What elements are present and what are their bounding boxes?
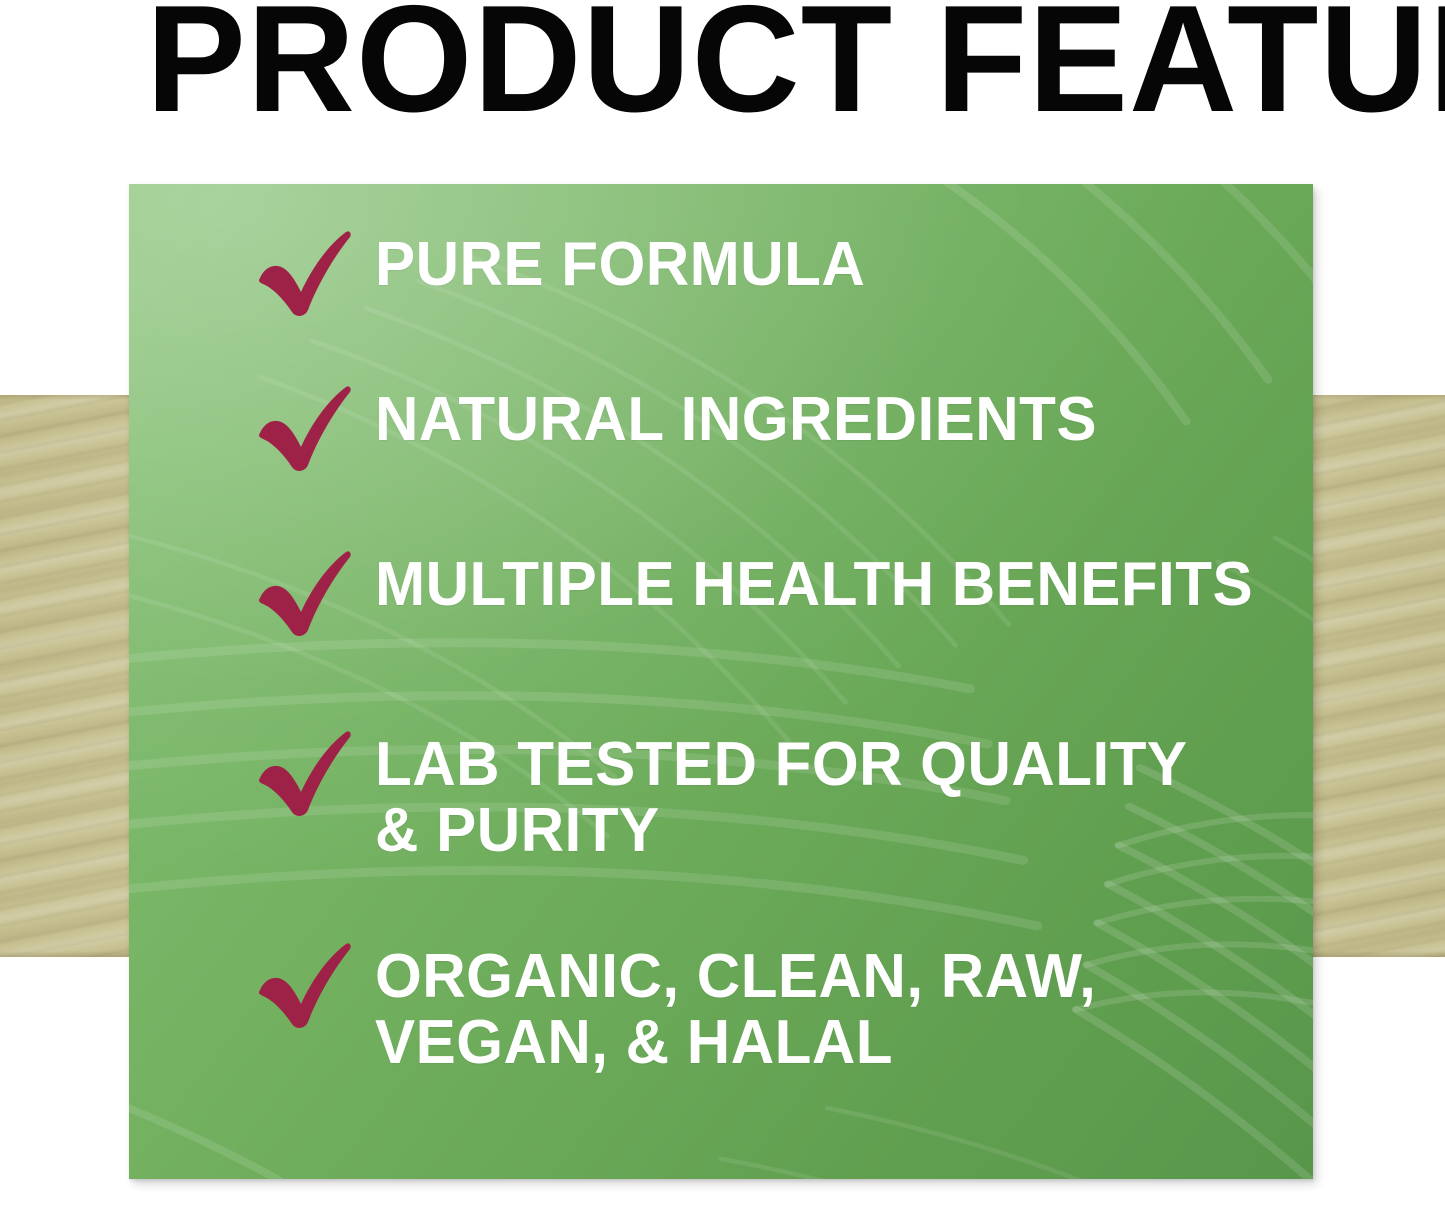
page-title: PRODUCT FEATURES (146, 0, 1308, 134)
feature-label: MULTIPLE HEALTH BENEFITS (375, 552, 1253, 618)
check-icon (253, 726, 353, 818)
feature-row: LAB TESTED FOR QUALITY & PURITY (253, 732, 1213, 864)
feature-list: PURE FORMULA NATURAL INGREDIENTS MULTIPL… (129, 184, 1313, 1179)
check-icon (253, 546, 353, 638)
feature-row: NATURAL INGREDIENTS (253, 387, 1119, 479)
check-icon (253, 938, 353, 1030)
features-panel: PURE FORMULA NATURAL INGREDIENTS MULTIPL… (129, 184, 1313, 1179)
feature-row: PURE FORMULA (253, 232, 880, 324)
feature-label: NATURAL INGREDIENTS (375, 387, 1097, 453)
feature-label: ORGANIC, CLEAN, RAW, VEGAN, & HALAL (375, 944, 1096, 1076)
feature-label: LAB TESTED FOR QUALITY & PURITY (375, 732, 1188, 864)
feature-row: ORGANIC, CLEAN, RAW, VEGAN, & HALAL (253, 944, 1119, 1076)
feature-label: PURE FORMULA (375, 232, 865, 298)
infographic-root: PRODUCT FEATURES (0, 0, 1445, 1210)
check-icon (253, 226, 353, 318)
feature-row: MULTIPLE HEALTH BENEFITS (253, 552, 1280, 644)
check-icon (253, 381, 353, 473)
